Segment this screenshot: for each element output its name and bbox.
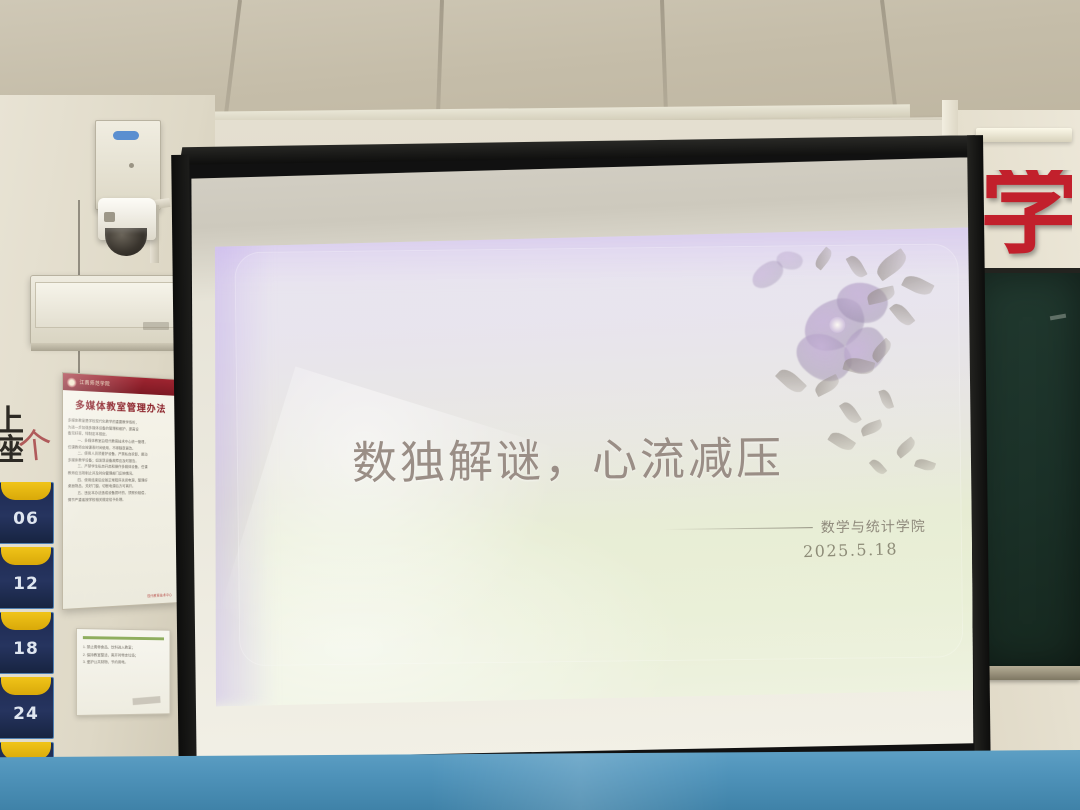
classroom-scene: 学 江南师范学院 多媒体教室管理办法 多媒体教室是学校现代化教学的重要教学场所，… [0, 0, 1080, 810]
notice-line: 1. 禁止携带食品、饮料进入教室； [83, 644, 164, 652]
wall-control-box [95, 120, 161, 210]
camera-sensor [104, 212, 115, 222]
notice-line: 3. 爱护公共财物，节约用电。 [83, 659, 164, 667]
slide-title: 数独解谜，心流减压 [213, 419, 984, 493]
poster-glare [63, 373, 177, 609]
pocket-flap [1, 677, 51, 695]
organizer-pocket[interactable]: 24 [0, 677, 54, 739]
screen-surface: 数独解谜，心流减压 数学与统计学院 2025.5.18 [187, 157, 976, 759]
slide-department: 数学与统计学院 [821, 516, 926, 537]
wall-character-glyph: 学 [984, 170, 1072, 260]
notice-accent-bar [83, 636, 164, 640]
box-sticker [113, 131, 139, 140]
projection-screen[interactable]: 数独解谜，心流减压 数学与统计学院 2025.5.18 [171, 135, 991, 793]
pocket-flap [1, 482, 51, 500]
chalk-mark [1050, 314, 1066, 321]
organizer-pocket[interactable]: 18 [0, 612, 54, 674]
organizer-pocket[interactable]: 06 [0, 482, 54, 544]
pocket-flap [1, 612, 51, 630]
lower-notice-sheet: 1. 禁止携带食品、饮料进入教室； 2. 保持教室整洁，离开时带走垃圾； 3. … [76, 628, 170, 716]
wainscot-highlight [430, 750, 730, 810]
red-handwriting-mark: 个 [15, 416, 65, 476]
blue-wainscot [0, 750, 1080, 810]
pocket-number: 24 [0, 704, 53, 724]
fluorescent-tube-light [976, 128, 1072, 142]
multimedia-classroom-rules-poster: 江南师范学院 多媒体教室管理办法 多媒体教室是学校现代化教学的重要教学场所， 为… [62, 372, 178, 610]
box-screw [129, 163, 134, 168]
organizer-pocket[interactable]: 12 [0, 547, 54, 609]
ac-base [31, 343, 181, 351]
air-conditioner [30, 275, 180, 345]
pocket-number: 06 [0, 509, 53, 529]
slide-date: 2025.5.18 [803, 539, 898, 561]
pocket-number: 18 [0, 639, 53, 659]
projected-slide: 数独解谜，心流减压 数学与统计学院 2025.5.18 [210, 227, 986, 706]
notice-signature [132, 696, 160, 705]
credit-rule [663, 527, 813, 530]
pocket-number: 12 [0, 574, 53, 594]
pocket-flap [1, 547, 51, 565]
slide-credit-line: 数学与统计学院 [596, 516, 926, 540]
ac-brand-label [143, 322, 169, 330]
